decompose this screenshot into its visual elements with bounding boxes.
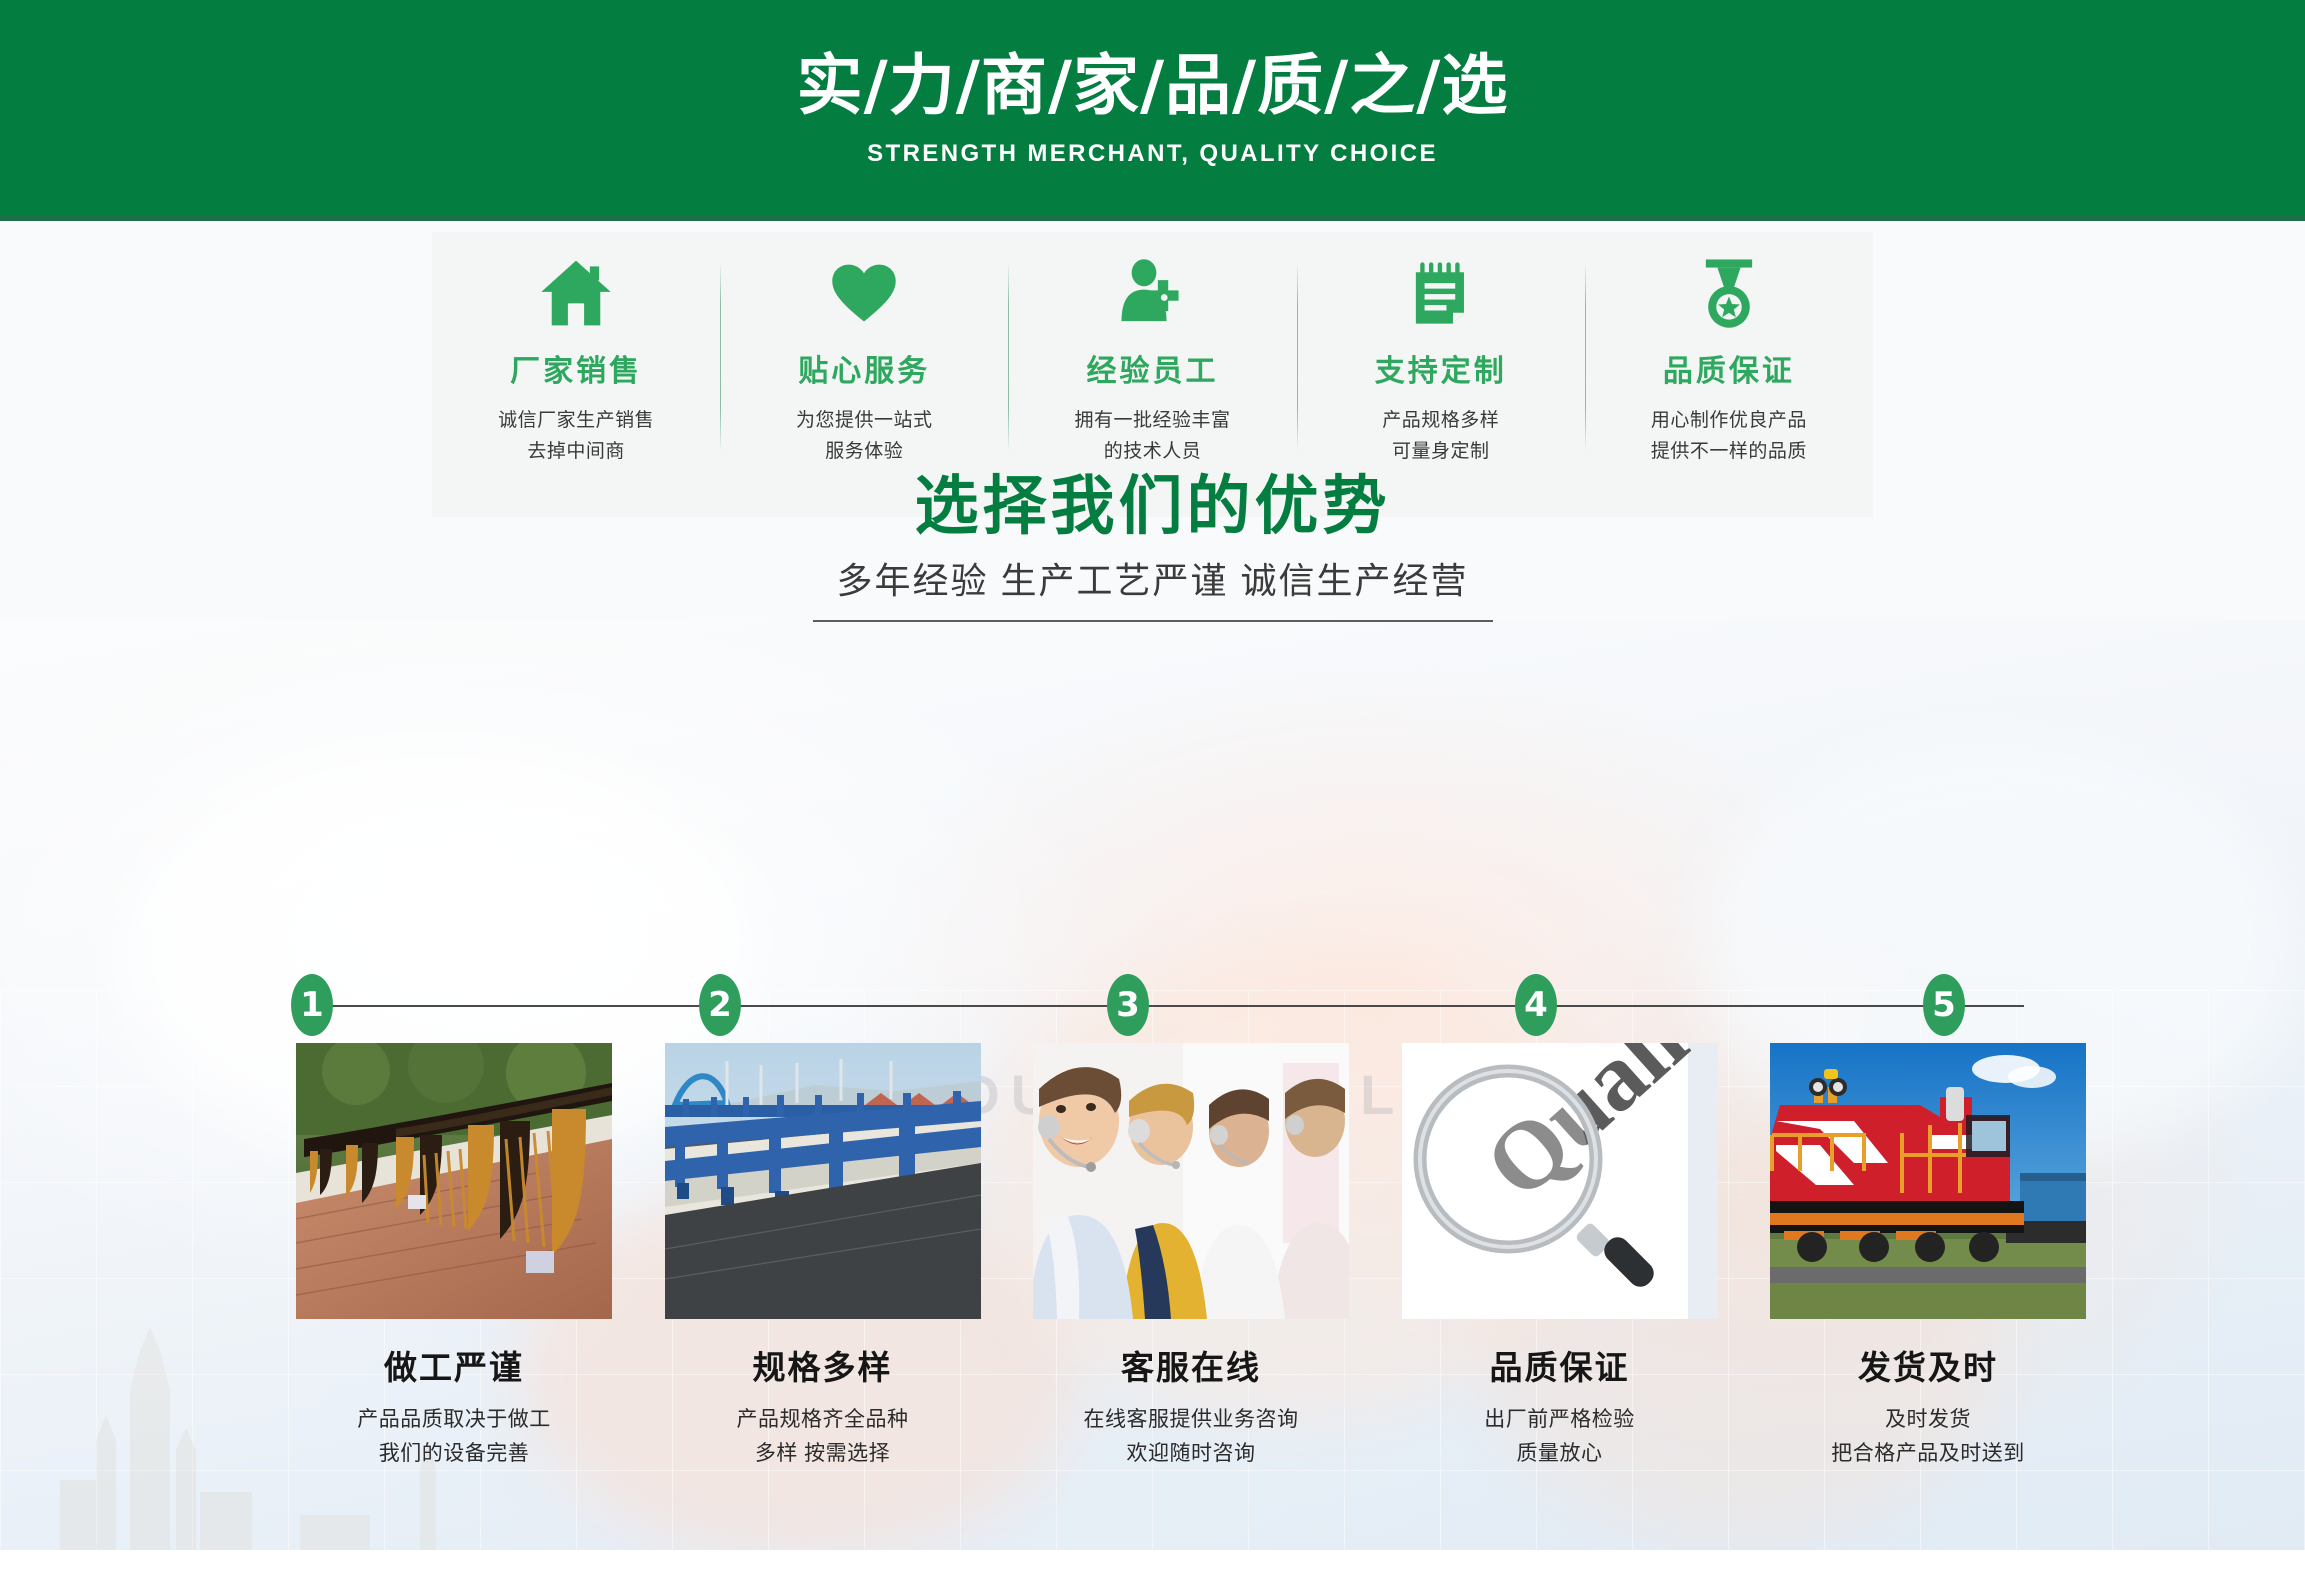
card-desc: 出厂前严格检验 质量放心 [1402, 1403, 1718, 1470]
card-title: 规格多样 [665, 1341, 981, 1389]
feature-title: 贴心服务 [798, 346, 930, 390]
step-node-4[interactable]: 4 [1515, 974, 1557, 1036]
card-title: 品质保证 [1402, 1341, 1718, 1389]
feature-desc-line: 拥有一批经验丰富 [1075, 406, 1231, 437]
card-desc: 在线客服提供业务咨询 欢迎随时咨询 [1033, 1403, 1349, 1470]
card-desc-line: 及时发货 [1770, 1403, 2086, 1437]
card-title: 客服在线 [1033, 1341, 1349, 1389]
advantage-card-2[interactable]: 规格多样 产品规格齐全品种 多样 按需选择 [665, 1043, 981, 1503]
card-desc-line: 欢迎随时咨询 [1033, 1437, 1349, 1471]
advantage-heading: 选择我们的优势 [0, 455, 2305, 547]
advantage-underline [813, 620, 1493, 622]
feature-desc-line: 用心制作优良产品 [1651, 406, 1807, 437]
customer-service-headset-photo[interactable] [1033, 1043, 1349, 1319]
blue-guardrail-bridge-photo[interactable] [665, 1043, 981, 1319]
card-desc-line: 我们的设备完善 [296, 1437, 612, 1471]
step-node-3[interactable]: 3 [1107, 974, 1149, 1036]
card-desc-line: 多样 按需选择 [665, 1437, 981, 1471]
hero-title: 实/力/商/家/品/质/之/选 [797, 48, 1509, 124]
bridge-railing-bronze-photo[interactable] [296, 1043, 612, 1319]
hero-banner: 实/力/商/家/品/质/之/选 STRENGTH MERCHANT, QUALI… [0, 0, 2305, 216]
card-desc-line: 产品品质取决于做工 [296, 1403, 612, 1437]
step-node-5[interactable]: 5 [1923, 974, 1965, 1036]
promo-page: 实/力/商/家/品/质/之/选 STRENGTH MERCHANT, QUALI… [0, 0, 2305, 1577]
feature-title: 经验员工 [1087, 346, 1219, 390]
card-desc-line: 产品规格齐全品种 [665, 1403, 981, 1437]
house-icon [537, 254, 615, 332]
card-title: 发货及时 [1770, 1341, 2086, 1389]
advantage-subheading: 多年经验 生产工艺严谨 诚信生产经营 [0, 552, 2305, 604]
notepad-icon [1402, 254, 1480, 332]
user-plus-icon [1114, 254, 1192, 332]
red-freight-train-photo[interactable] [1770, 1043, 2086, 1319]
steps-timeline: 1 2 3 4 5 [312, 1005, 2024, 1007]
footer-strip [0, 1550, 2305, 1577]
feature-title: 厂家销售 [510, 346, 642, 390]
step-node-2[interactable]: 2 [699, 974, 741, 1036]
advantage-card-1[interactable]: 做工严谨 产品品质取决于做工 我们的设备完善 [296, 1043, 612, 1503]
card-desc: 产品品质取决于做工 我们的设备完善 [296, 1403, 612, 1470]
card-title: 做工严谨 [296, 1341, 612, 1389]
advantage-card-4[interactable]: Quality 品质保证 出厂前严格检验 质量放心 [1402, 1043, 1718, 1503]
card-desc-line: 在线客服提供业务咨询 [1033, 1403, 1349, 1437]
hero-subtitle: STRENGTH MERCHANT, QUALITY CHOICE [867, 140, 1438, 168]
feature-desc-line: 诚信厂家生产销售 [498, 406, 654, 437]
quality-magnifier-photo[interactable]: Quality [1402, 1043, 1718, 1319]
advantage-cards: 做工严谨 产品品质取决于做工 我们的设备完善 [296, 1043, 2086, 1503]
advantage-card-5[interactable]: 发货及时 及时发货 把合格产品及时送到 [1770, 1043, 2086, 1503]
step-node-1[interactable]: 1 [291, 974, 333, 1036]
card-desc-line: 把合格产品及时送到 [1770, 1437, 2086, 1471]
card-desc: 及时发货 把合格产品及时送到 [1770, 1403, 2086, 1470]
heart-icon [825, 254, 903, 332]
feature-title: 支持定制 [1375, 346, 1507, 390]
feature-title: 品质保证 [1663, 346, 1795, 390]
card-desc: 产品规格齐全品种 多样 按需选择 [665, 1403, 981, 1470]
feature-desc-line: 为您提供一站式 [796, 406, 933, 437]
advantage-card-3[interactable]: 客服在线 在线客服提供业务咨询 欢迎随时咨询 [1033, 1043, 1349, 1503]
medal-icon [1690, 254, 1768, 332]
card-desc-line: 质量放心 [1402, 1437, 1718, 1471]
card-desc-line: 出厂前严格检验 [1402, 1403, 1718, 1437]
feature-desc-line: 产品规格多样 [1382, 406, 1499, 437]
